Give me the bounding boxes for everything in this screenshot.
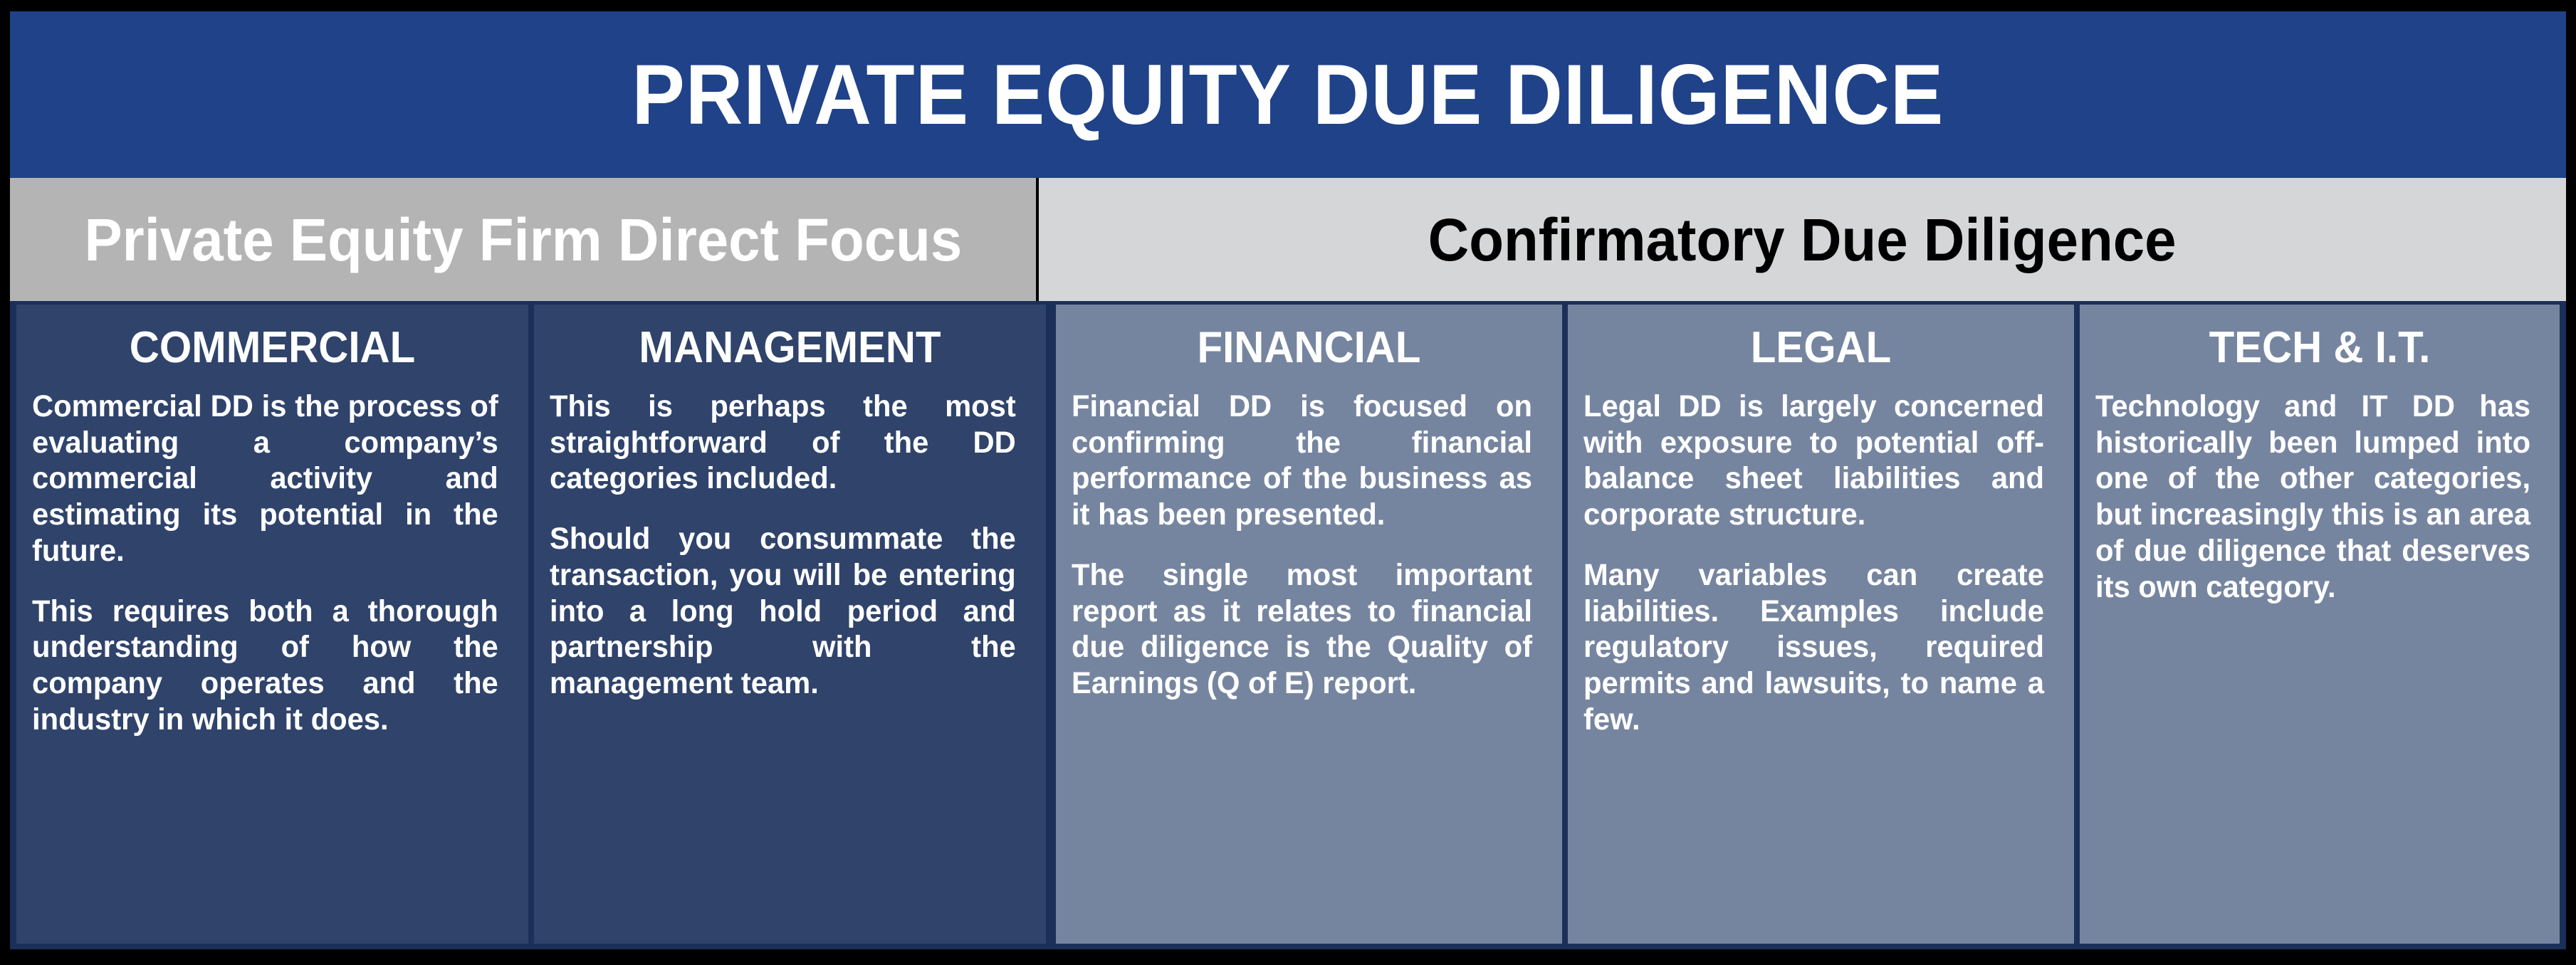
subheader-direct-focus-label: Private Equity Firm Direct Focus <box>84 210 962 270</box>
column-financial-heading: FINANCIAL <box>1086 305 1532 389</box>
column-legal-body: Legal DD is largely concerned with expos… <box>1583 389 2058 944</box>
edge-separator-right <box>2560 305 2566 944</box>
paragraph: Many variables can create liabilities. E… <box>1583 557 2044 738</box>
column-commercial-heading: COMMERCIAL <box>46 305 498 389</box>
paragraph: Commercial DD is the process of evaluati… <box>32 389 498 569</box>
paragraph: This is perhaps the most straightforward… <box>550 389 1016 497</box>
column-tech-it: TECH & I.T. Technology and IT DD has his… <box>2080 305 2560 944</box>
column-separator <box>528 305 534 944</box>
paragraph: Technology and IT DD has historically be… <box>2095 389 2530 605</box>
paragraph: Should you consummate the transaction, y… <box>550 521 1016 702</box>
subheader-confirmatory-label: Confirmatory Due Diligence <box>1428 210 2177 270</box>
column-commercial: COMMERCIAL Commercial DD is the process … <box>16 305 528 944</box>
column-management-body: This is perhaps the most straightforward… <box>550 389 1030 944</box>
columns-band: COMMERCIAL Commercial DD is the process … <box>10 301 2566 949</box>
column-financial-body: Financial DD is focused on confirming th… <box>1072 389 1546 944</box>
paragraph: This requires both a thorough understand… <box>32 594 498 738</box>
column-management-heading: MANAGEMENT <box>564 305 1016 389</box>
column-separator <box>1562 305 1568 944</box>
column-tech-it-heading: TECH & I.T. <box>2109 305 2530 389</box>
column-tech-it-body: Technology and IT DD has historically be… <box>2095 389 2544 944</box>
title-band: PRIVATE EQUITY DUE DILIGENCE <box>10 11 2566 178</box>
subheader-confirmatory: Confirmatory Due Diligence <box>1039 178 2566 301</box>
subheader-direct-focus: Private Equity Firm Direct Focus <box>10 178 1036 301</box>
edge-separator-left <box>10 305 16 944</box>
page-title: PRIVATE EQUITY DUE DILIGENCE <box>632 52 1944 137</box>
column-separator <box>2074 305 2080 944</box>
subheader-band: Private Equity Firm Direct Focus Confirm… <box>10 178 2566 301</box>
column-commercial-body: Commercial DD is the process of evaluati… <box>32 389 513 944</box>
group-separator <box>1046 305 1056 944</box>
column-management: MANAGEMENT This is perhaps the most stra… <box>534 305 1046 944</box>
paragraph: Financial DD is focused on confirming th… <box>1072 389 1532 533</box>
column-legal: LEGAL Legal DD is largely concerned with… <box>1568 305 2074 944</box>
paragraph: The single most important report as it r… <box>1072 557 1532 702</box>
infographic-root: PRIVATE EQUITY DUE DILIGENCE Private Equ… <box>10 11 2566 949</box>
column-legal-heading: LEGAL <box>1598 305 2044 389</box>
paragraph: Legal DD is largely concerned with expos… <box>1583 389 2044 533</box>
column-financial: FINANCIAL Financial DD is focused on con… <box>1056 305 1562 944</box>
